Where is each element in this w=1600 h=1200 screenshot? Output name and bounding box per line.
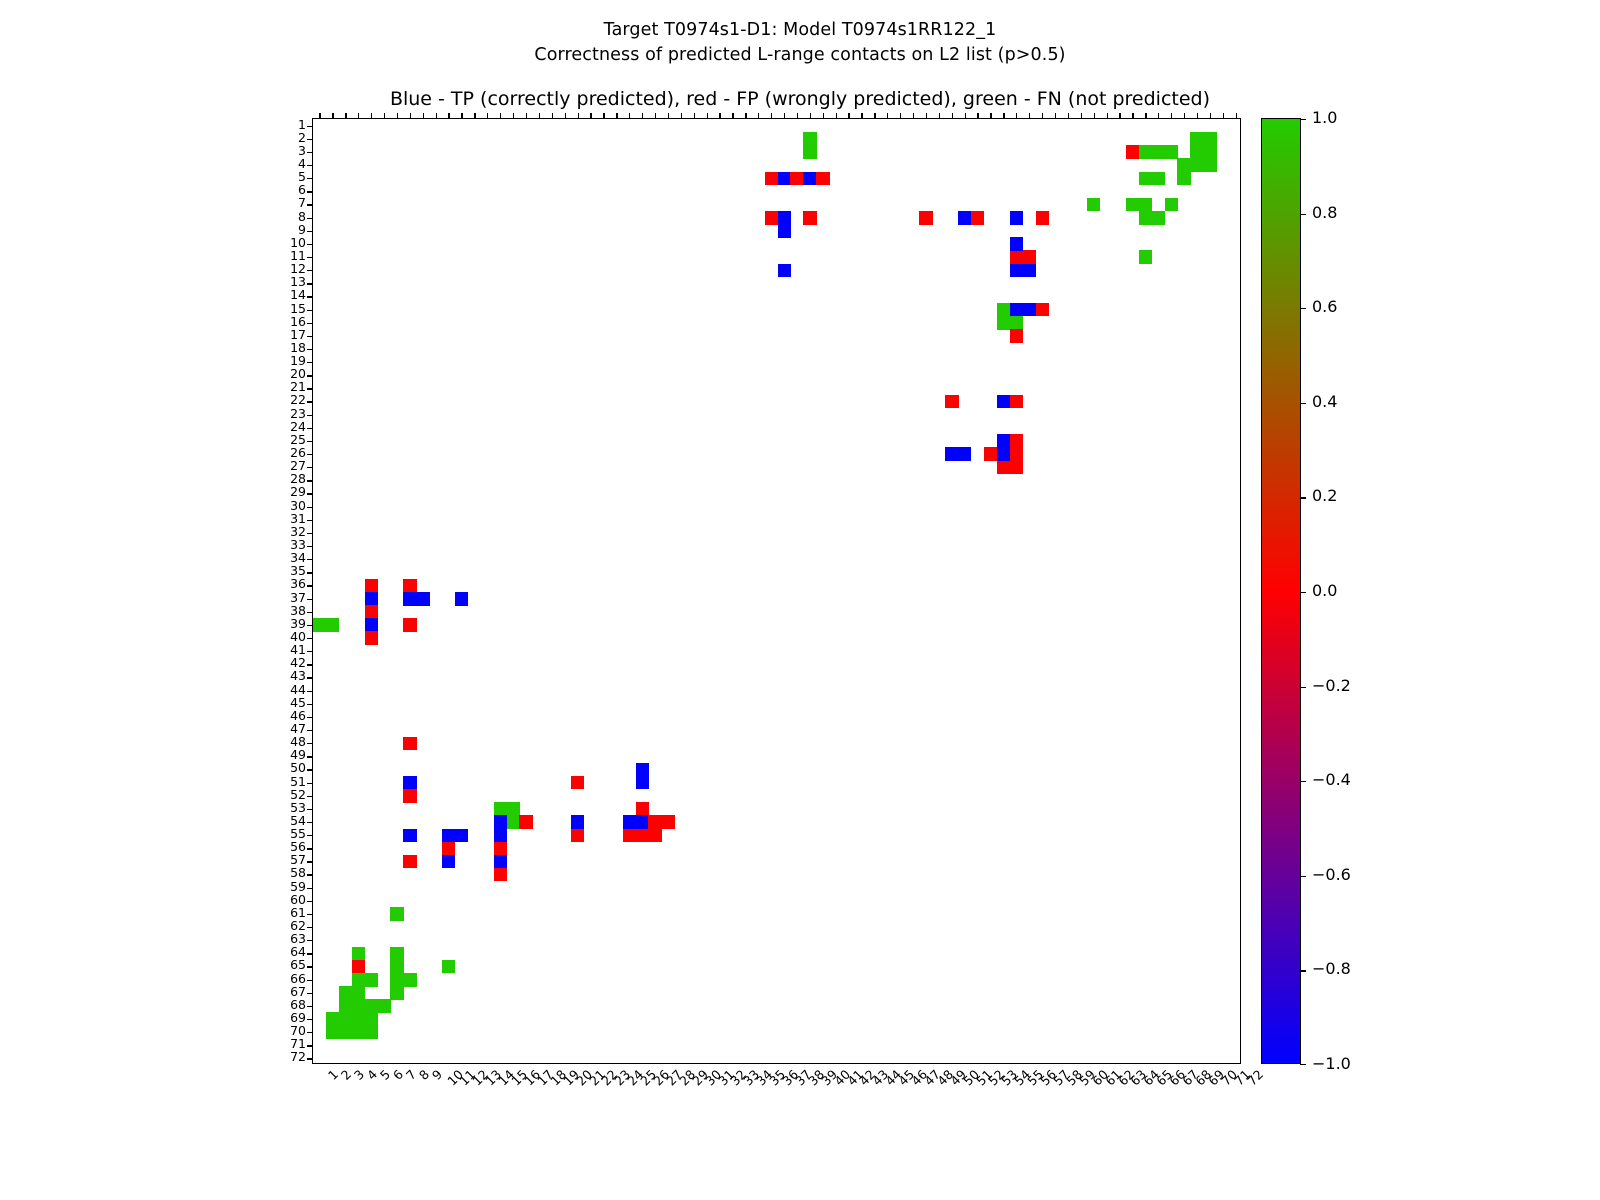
colorbar-tick-label: 0.6 <box>1312 299 1337 315</box>
contact-cell <box>1010 461 1023 475</box>
y-axis-tick <box>307 953 313 954</box>
contact-cell <box>765 172 778 186</box>
x-axis-tick-label: 9 <box>430 1068 444 1082</box>
contact-cell <box>1165 145 1178 159</box>
contact-cell <box>945 447 958 461</box>
contact-cell <box>1190 132 1203 146</box>
contact-cell <box>1177 158 1190 172</box>
x-axis-tick <box>694 113 695 119</box>
contact-cell <box>378 999 391 1013</box>
contact-cell <box>778 172 791 186</box>
x-axis-tick <box>436 113 437 119</box>
contact-cell <box>352 1012 365 1026</box>
figure-title: Target T0974s1-D1: Model T0974s1RR122_1 … <box>0 18 1600 68</box>
x-axis-tick <box>1210 113 1211 119</box>
y-axis-tick <box>307 638 313 639</box>
contact-cell <box>997 395 1010 409</box>
contact-cell <box>365 1026 378 1040</box>
contact-cell <box>326 1012 339 1026</box>
contact-cell <box>442 855 455 869</box>
y-axis-tick <box>307 993 313 994</box>
contact-cell <box>390 986 403 1000</box>
colorbar-gradient <box>1262 119 1300 1063</box>
contact-cell <box>1190 145 1203 159</box>
y-axis-tick <box>307 244 313 245</box>
x-axis-tick <box>926 113 927 119</box>
contact-cell <box>1152 211 1165 225</box>
y-axis-tick <box>307 888 313 889</box>
y-axis-tick <box>307 914 313 915</box>
contact-cell <box>636 763 649 777</box>
x-axis-tick <box>823 113 824 119</box>
x-axis-tick <box>1003 113 1004 119</box>
contact-cell <box>365 605 378 619</box>
y-axis-tick <box>307 323 313 324</box>
x-axis-tick <box>1158 113 1159 119</box>
contact-cell <box>661 815 674 829</box>
x-axis-tick <box>423 113 424 119</box>
contact-cell <box>455 592 468 606</box>
contact-cell <box>365 1012 378 1026</box>
y-axis-tick <box>307 375 313 376</box>
contact-cell <box>636 829 649 843</box>
x-axis-tick <box>345 113 346 119</box>
contact-cell <box>1010 395 1023 409</box>
contact-cell <box>365 592 378 606</box>
x-axis-tick <box>836 113 837 119</box>
title-line-1: Target T0974s1-D1: Model T0974s1RR122_1 <box>0 18 1600 43</box>
y-axis-tick <box>307 585 313 586</box>
x-axis-tick <box>745 113 746 119</box>
x-axis-tick <box>448 113 449 119</box>
color-legend-text: Blue - TP (correctly predicted), red - F… <box>0 88 1600 110</box>
y-axis-tick <box>307 651 313 652</box>
contact-cell <box>1010 434 1023 448</box>
x-axis-tick <box>474 113 475 119</box>
x-axis-tick <box>513 113 514 119</box>
contact-cell <box>765 211 778 225</box>
contact-cell <box>803 211 816 225</box>
contact-cell <box>352 986 365 1000</box>
y-axis-tick <box>307 1058 313 1059</box>
colorbar-tick-label: 1.0 <box>1312 110 1337 126</box>
contact-cell <box>313 618 326 632</box>
contact-cell <box>997 316 1010 330</box>
x-axis-tick <box>990 113 991 119</box>
x-axis-tick <box>797 113 798 119</box>
contact-cell <box>778 224 791 238</box>
contact-cell <box>790 172 803 186</box>
contact-cell <box>352 973 365 987</box>
contact-cell <box>778 211 791 225</box>
contact-cell <box>507 802 520 816</box>
contact-cell <box>803 132 816 146</box>
x-axis-tick <box>952 113 953 119</box>
contact-map-plot-area[interactable] <box>312 118 1241 1064</box>
contact-cell <box>1139 172 1152 186</box>
y-axis-tick <box>307 218 313 219</box>
x-axis-tick <box>887 113 888 119</box>
contact-cell <box>1010 303 1023 317</box>
contact-cell <box>519 815 532 829</box>
y-axis-tick <box>307 401 313 402</box>
y-axis-tick <box>307 572 313 573</box>
y-axis-tick <box>307 428 313 429</box>
x-axis-tick <box>771 113 772 119</box>
contact-cell <box>442 960 455 974</box>
contact-cell <box>390 947 403 961</box>
x-axis-tick <box>1055 113 1056 119</box>
y-axis-tick <box>307 454 313 455</box>
y-axis-tick <box>307 874 313 875</box>
x-axis-tick <box>1223 113 1224 119</box>
contact-cell <box>403 973 416 987</box>
x-axis-tick <box>668 113 669 119</box>
y-axis-tick <box>307 415 313 416</box>
contact-cell <box>403 618 416 632</box>
contact-cell <box>403 579 416 593</box>
contact-cell <box>571 829 584 843</box>
x-axis-tick <box>590 113 591 119</box>
contact-cell <box>1036 303 1049 317</box>
y-axis-tick <box>307 204 313 205</box>
contact-cell <box>403 789 416 803</box>
y-axis-tick <box>307 743 313 744</box>
contact-cell <box>403 737 416 751</box>
contact-cell <box>997 447 1010 461</box>
colorbar-tick <box>1300 119 1306 120</box>
contact-cell <box>416 592 429 606</box>
contact-cell <box>365 618 378 632</box>
y-axis-tick <box>307 126 313 127</box>
y-axis-tick <box>307 349 313 350</box>
contact-cell <box>945 395 958 409</box>
contact-cell <box>326 618 339 632</box>
contact-cell <box>494 855 507 869</box>
x-axis-tick <box>732 113 733 119</box>
x-axis-tick <box>1094 113 1095 119</box>
x-axis-tick <box>500 113 501 119</box>
y-axis-tick <box>307 822 313 823</box>
contact-cell <box>390 960 403 974</box>
contact-cell <box>339 999 352 1013</box>
y-axis-tick <box>307 559 313 560</box>
x-axis-tick-label: 72 <box>1245 1068 1265 1088</box>
contact-cell <box>1139 211 1152 225</box>
y-axis-tick <box>307 1045 313 1046</box>
colorbar-tick-label: 0.4 <box>1312 394 1337 410</box>
contact-cell <box>352 1026 365 1040</box>
contact-cell <box>971 211 984 225</box>
y-axis-tick <box>307 231 313 232</box>
contact-cell <box>571 815 584 829</box>
contact-cell <box>1139 198 1152 212</box>
y-axis-tick <box>307 1019 313 1020</box>
x-axis-tick <box>681 113 682 119</box>
contact-cell <box>494 802 507 816</box>
contact-cell <box>339 986 352 1000</box>
contact-cell <box>1139 250 1152 264</box>
x-axis-tick <box>642 113 643 119</box>
y-axis-tick <box>307 769 313 770</box>
x-axis-tick-labels: 1234567891011121314151617181920212223242… <box>312 1068 1241 1158</box>
y-axis-tick <box>307 270 313 271</box>
contact-cell <box>365 579 378 593</box>
y-axis-tick <box>307 480 313 481</box>
colorbar-tick <box>1300 781 1306 782</box>
y-axis-tick <box>307 717 313 718</box>
contact-cell <box>1023 264 1036 278</box>
y-axis-tick <box>307 533 313 534</box>
contact-cell <box>494 829 507 843</box>
x-axis-tick <box>1042 113 1043 119</box>
colorbar-tick <box>1300 876 1306 877</box>
y-axis-tick <box>307 664 313 665</box>
x-axis-tick <box>539 113 540 119</box>
contact-cell <box>1165 198 1178 212</box>
y-axis-tick <box>307 336 313 337</box>
contact-cell <box>648 829 661 843</box>
contact-cell <box>1190 158 1203 172</box>
colorbar-tick-label: −0.2 <box>1312 678 1351 694</box>
x-axis-tick <box>1184 113 1185 119</box>
contact-cell <box>352 947 365 961</box>
colorbar-tick <box>1300 497 1306 498</box>
y-axis-tick <box>307 848 313 849</box>
contact-cell <box>352 960 365 974</box>
y-axis-tick-label: 72 <box>290 1051 306 1064</box>
contact-cell <box>1087 198 1100 212</box>
contact-cell <box>365 973 378 987</box>
figure-canvas: Target T0974s1-D1: Model T0974s1RR122_1 … <box>0 0 1600 1200</box>
contact-cell <box>1010 211 1023 225</box>
colorbar-tick-label: 0.8 <box>1312 205 1337 221</box>
y-axis-tick <box>307 257 313 258</box>
contact-cell <box>997 434 1010 448</box>
contact-cell <box>494 815 507 829</box>
y-axis-tick <box>307 191 313 192</box>
y-axis-tick <box>307 507 313 508</box>
contact-cell <box>636 815 649 829</box>
contact-cell <box>455 829 468 843</box>
contact-cell <box>1036 211 1049 225</box>
x-axis-tick <box>707 113 708 119</box>
x-axis-tick <box>939 113 940 119</box>
x-axis-tick <box>526 113 527 119</box>
contact-cell <box>339 1026 352 1040</box>
y-axis-tick <box>307 612 313 613</box>
colorbar[interactable] <box>1261 118 1301 1064</box>
colorbar-tick <box>1300 687 1306 688</box>
contact-cell <box>403 776 416 790</box>
contact-cell <box>494 868 507 882</box>
x-axis-tick <box>1068 113 1069 119</box>
x-axis-tick <box>1081 113 1082 119</box>
contact-cell <box>390 907 403 921</box>
contact-cell <box>1177 172 1190 186</box>
y-axis-tick <box>307 546 313 547</box>
contact-cell <box>1139 145 1152 159</box>
y-axis-tick <box>307 520 313 521</box>
x-axis-tick <box>461 113 462 119</box>
y-axis-tick <box>307 283 313 284</box>
y-axis-tick <box>307 901 313 902</box>
x-axis-tick <box>384 113 385 119</box>
y-axis-tick <box>307 493 313 494</box>
y-axis-tick <box>307 966 313 967</box>
y-axis-tick <box>307 730 313 731</box>
x-axis-tick <box>900 113 901 119</box>
x-axis-tick <box>758 113 759 119</box>
x-axis-tick <box>874 113 875 119</box>
x-axis-tick <box>603 113 604 119</box>
contact-cell <box>365 999 378 1013</box>
y-axis-tick <box>307 861 313 862</box>
x-axis-tick <box>1107 113 1108 119</box>
y-axis-tick <box>307 704 313 705</box>
y-axis-tick <box>307 178 313 179</box>
contact-cell <box>1010 237 1023 251</box>
y-axis-tick <box>307 796 313 797</box>
x-axis-tick <box>965 113 966 119</box>
colorbar-tick <box>1300 1064 1306 1065</box>
x-axis-tick <box>848 113 849 119</box>
x-axis-tick <box>1029 113 1030 119</box>
contact-cell <box>442 829 455 843</box>
contact-cell <box>326 1026 339 1040</box>
y-axis-tick <box>307 940 313 941</box>
contact-cell <box>339 1012 352 1026</box>
contact-cell <box>403 592 416 606</box>
x-axis-tick <box>616 113 617 119</box>
contact-cell <box>803 145 816 159</box>
x-axis-tick <box>397 113 398 119</box>
y-axis-tick <box>307 835 313 836</box>
y-axis-tick <box>307 362 313 363</box>
contact-cell <box>1126 198 1139 212</box>
x-axis-tick <box>1145 113 1146 119</box>
y-axis-tick <box>307 809 313 810</box>
y-axis-tick-labels: 1234567891011121314151617181920212223242… <box>248 118 306 1064</box>
y-axis-tick <box>307 310 313 311</box>
y-axis-tick <box>307 599 313 600</box>
x-axis-tick <box>552 113 553 119</box>
y-axis-tick <box>307 467 313 468</box>
contact-cell <box>648 815 661 829</box>
contact-cell <box>1126 145 1139 159</box>
contact-cell <box>1010 329 1023 343</box>
x-axis-tick <box>810 113 811 119</box>
contact-cell <box>623 815 636 829</box>
x-axis-tick <box>332 113 333 119</box>
y-axis-tick <box>307 165 313 166</box>
y-axis-tick <box>307 1032 313 1033</box>
contact-cell <box>1010 447 1023 461</box>
x-axis-tick <box>410 113 411 119</box>
contact-cell <box>507 815 520 829</box>
colorbar-tick <box>1300 970 1306 971</box>
x-axis-tick <box>1236 113 1237 119</box>
y-axis-tick <box>307 980 313 981</box>
y-axis-tick <box>307 927 313 928</box>
colorbar-tick-label: −0.8 <box>1312 961 1351 977</box>
contact-cell <box>390 973 403 987</box>
x-axis-tick <box>371 113 372 119</box>
contact-cell <box>1203 145 1216 159</box>
colorbar-tick <box>1300 214 1306 215</box>
contact-cell <box>365 631 378 645</box>
x-axis-tick <box>578 113 579 119</box>
x-axis-tick <box>1016 113 1017 119</box>
contact-cell <box>997 303 1010 317</box>
title-line-2: Correctness of predicted L-range contact… <box>0 43 1600 68</box>
contact-cell <box>352 999 365 1013</box>
x-axis-tick <box>1171 113 1172 119</box>
x-axis-tick <box>487 113 488 119</box>
x-axis-tick <box>977 113 978 119</box>
contact-cell <box>1023 303 1036 317</box>
x-axis-tick <box>719 113 720 119</box>
y-axis-tick <box>307 388 313 389</box>
colorbar-tick-label: −0.4 <box>1312 772 1351 788</box>
contact-cell <box>803 172 816 186</box>
y-axis-tick <box>307 677 313 678</box>
x-axis-tick <box>1197 113 1198 119</box>
contact-cell <box>403 855 416 869</box>
y-axis-tick <box>307 152 313 153</box>
x-axis-tick <box>319 113 320 119</box>
colorbar-tick-label: −0.6 <box>1312 867 1351 883</box>
contact-cell <box>403 829 416 843</box>
contact-cell <box>997 461 1010 475</box>
colorbar-tick-label: 0.2 <box>1312 488 1337 504</box>
contact-cell <box>919 211 932 225</box>
y-axis-tick <box>307 296 313 297</box>
x-axis-tick <box>1119 113 1120 119</box>
contact-cell <box>958 447 971 461</box>
contact-cell <box>984 447 997 461</box>
y-axis-tick <box>307 139 313 140</box>
contact-cell <box>1010 316 1023 330</box>
contact-cell <box>623 829 636 843</box>
x-axis-tick <box>913 113 914 119</box>
contact-cell <box>494 842 507 856</box>
x-axis-tick <box>565 113 566 119</box>
contact-cell <box>636 802 649 816</box>
contact-cell <box>1010 250 1023 264</box>
colorbar-tick <box>1300 308 1306 309</box>
colorbar-tick-label: 0.0 <box>1312 583 1337 599</box>
y-axis-tick <box>307 625 313 626</box>
x-axis-tick <box>629 113 630 119</box>
y-axis-tick <box>307 783 313 784</box>
colorbar-tick-label: −1.0 <box>1312 1056 1351 1072</box>
y-axis-tick <box>307 691 313 692</box>
contact-cell <box>636 776 649 790</box>
contact-cell <box>816 172 829 186</box>
contact-map-cells <box>313 119 1240 1063</box>
contact-cell <box>1010 264 1023 278</box>
contact-cell <box>1203 158 1216 172</box>
colorbar-tick <box>1300 403 1306 404</box>
contact-cell <box>571 776 584 790</box>
contact-cell <box>778 264 791 278</box>
contact-cell <box>958 211 971 225</box>
contact-cell <box>442 842 455 856</box>
contact-cell <box>1203 132 1216 146</box>
y-axis-tick <box>307 441 313 442</box>
y-axis-tick <box>307 1006 313 1007</box>
